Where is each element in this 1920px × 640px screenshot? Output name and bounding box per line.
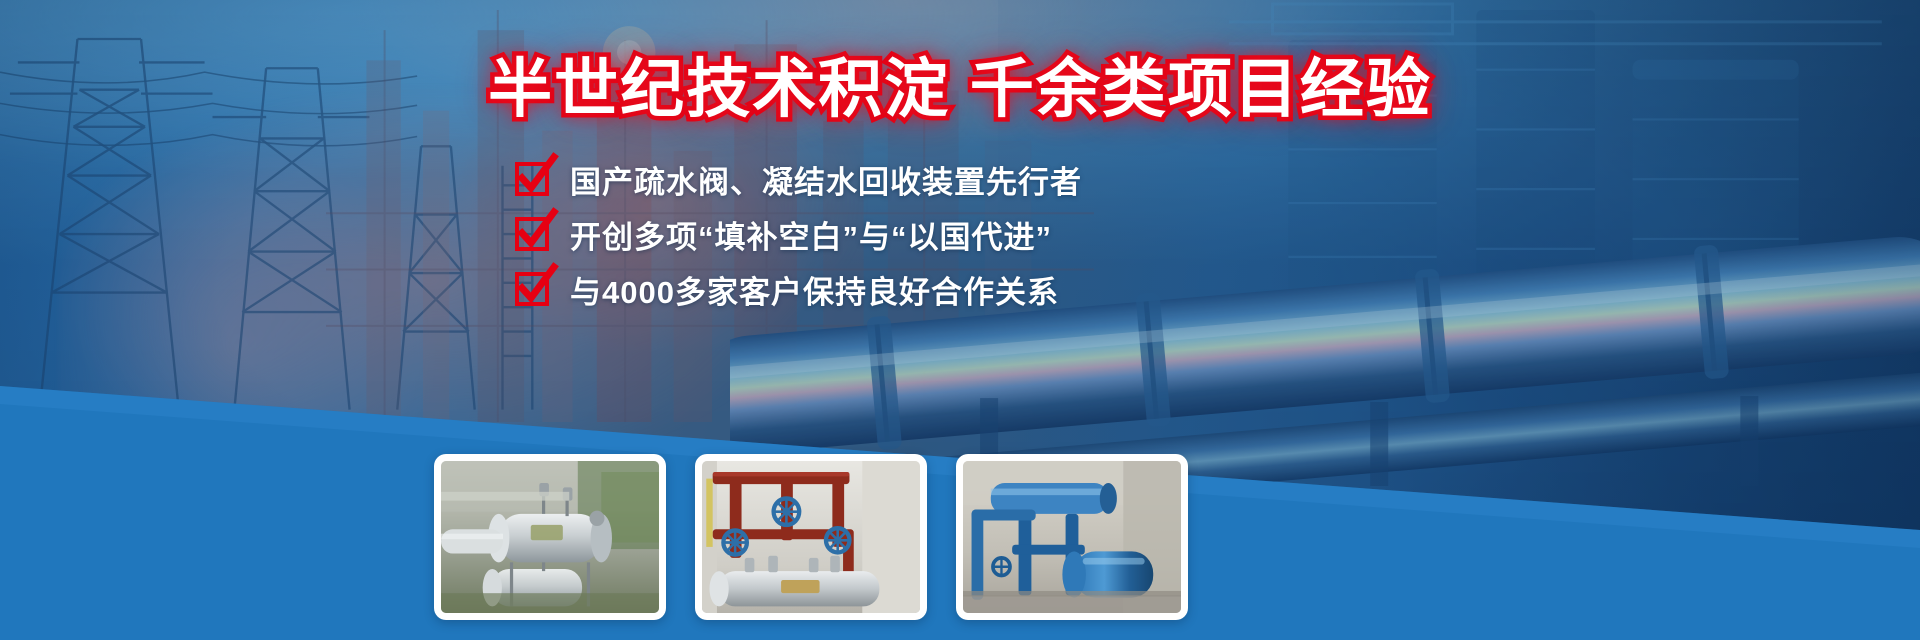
- photo-card-1[interactable]: [434, 454, 666, 620]
- photo-card-2[interactable]: [695, 454, 927, 620]
- photo-card-3[interactable]: [956, 454, 1188, 620]
- photo-thumbnail: [441, 461, 659, 613]
- promo-banner: 半世纪技术积淀 千余类项目经验 国产疏水阀、凝结水回收装置先行者: [0, 0, 1920, 640]
- photo-thumbnail: [702, 461, 920, 613]
- photo-thumbnail: [963, 461, 1181, 613]
- feature-bullet-item: 开创多项“填补空白”与“以国代进”: [516, 207, 1082, 261]
- feature-bullet-text: 国产疏水阀、凝结水回收装置先行者: [570, 157, 1082, 202]
- feature-bullet-text: 与4000多家客户保持良好合作关系: [570, 267, 1059, 312]
- feature-bullet-item: 与4000多家客户保持良好合作关系: [516, 262, 1082, 316]
- feature-bullet-list: 国产疏水阀、凝结水回收装置先行者 开创多项“填补空白”与“以国代进”: [516, 152, 1082, 317]
- checkbox-checked-icon: [516, 162, 550, 196]
- banner-content: 半世纪技术积淀 千余类项目经验 国产疏水阀、凝结水回收装置先行者: [0, 0, 1920, 640]
- feature-bullet-text: 开创多项“填补空白”与“以国代进”: [570, 212, 1052, 257]
- checkbox-checked-icon: [516, 217, 550, 251]
- feature-bullet-item: 国产疏水阀、凝结水回收装置先行者: [516, 152, 1082, 206]
- checkbox-checked-icon: [516, 272, 550, 306]
- product-photo-gallery: [434, 454, 1188, 620]
- banner-headline: 半世纪技术积淀 千余类项目经验: [0, 38, 1920, 130]
